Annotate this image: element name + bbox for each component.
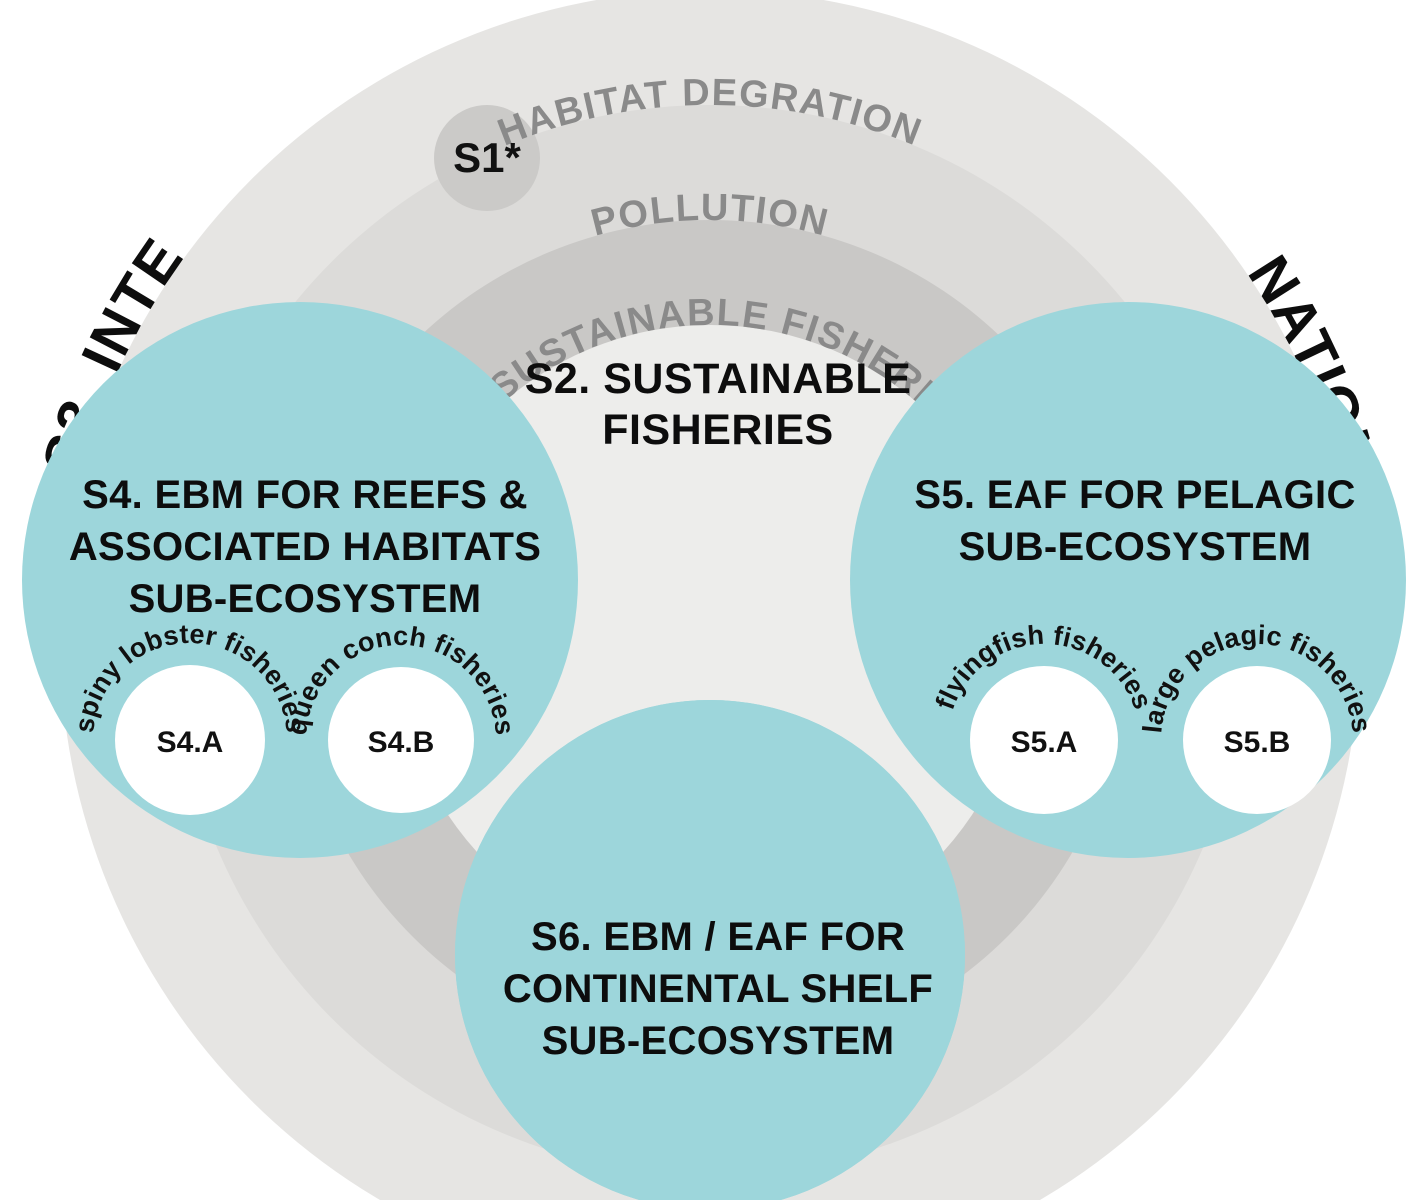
subsystem-s6-line2: CONTINENTAL SHELF [503, 967, 933, 1011]
nested-circle-diagram: S3. INTE NATION HABITAT DEGRATION POLLUT… [0, 0, 1415, 1200]
subsystem-s5-line1: S5. EAF FOR PELAGIC [914, 473, 1355, 517]
bubble-s1-label: S1* [453, 134, 521, 181]
subsystem-s5-line2: SUB-ECOSYSTEM [959, 525, 1312, 569]
core-label-line1: S2. SUSTAINABLE [525, 355, 912, 403]
subsystem-s5a-code: S5.A [1011, 726, 1078, 759]
subsystem-s6-line3: SUB-ECOSYSTEM [542, 1019, 895, 1063]
subsystem-s4-line3: SUB-ECOSYSTEM [129, 577, 482, 621]
subsystem-s5b-code: S5.B [1224, 726, 1291, 759]
subsystem-s4-line1: S4. EBM FOR REEFS & [82, 473, 528, 517]
subsystem-s4a-code: S4.A [157, 726, 224, 759]
subsystem-s4b-code: S4.B [368, 726, 435, 759]
subsystem-s4-line2: ASSOCIATED HABITATS [69, 525, 541, 569]
subsystem-s5-circle[interactable] [850, 302, 1406, 858]
subsystem-s6-line1: S6. EBM / EAF FOR [531, 915, 905, 959]
core-label-line2: FISHERIES [602, 406, 834, 454]
